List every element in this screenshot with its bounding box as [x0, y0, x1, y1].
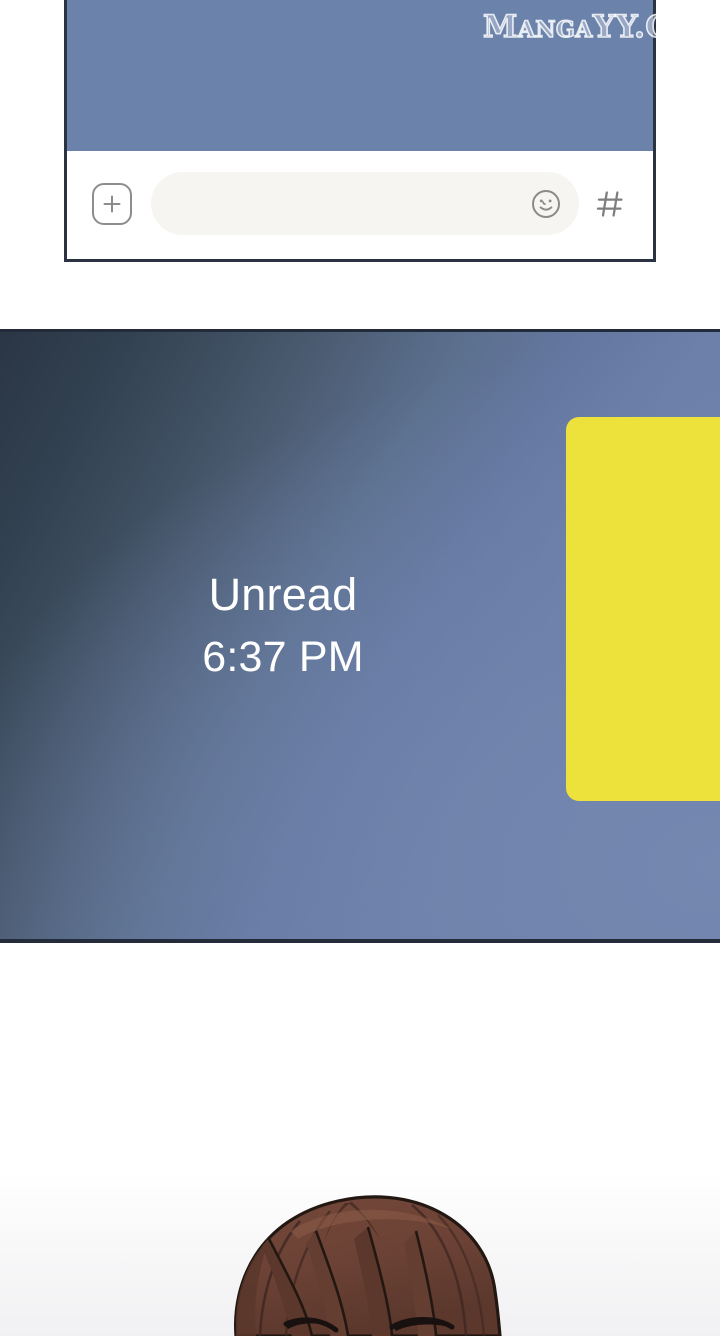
lower-white-area	[0, 943, 720, 1336]
page-root: Unread 6:37 PM	[0, 0, 720, 1336]
hash-icon[interactable]	[591, 185, 629, 223]
chat-window-panel	[64, 0, 656, 262]
smiley-face-icon[interactable]	[527, 185, 565, 223]
character-illustration	[0, 1191, 720, 1336]
panel-gutter	[0, 262, 720, 329]
composer-row	[67, 151, 653, 256]
unread-status-label: Unread	[209, 571, 358, 618]
message-input[interactable]	[151, 172, 579, 235]
add-attachment-button[interactable]	[92, 183, 132, 225]
unread-marker-group: Unread 6:37 PM	[0, 332, 566, 939]
yellow-message-bubble	[566, 417, 720, 801]
scene-panel: Unread 6:37 PM	[0, 329, 720, 943]
message-timestamp: 6:37 PM	[202, 635, 364, 680]
chat-window-backdrop	[67, 0, 653, 151]
plus-icon	[100, 192, 124, 216]
